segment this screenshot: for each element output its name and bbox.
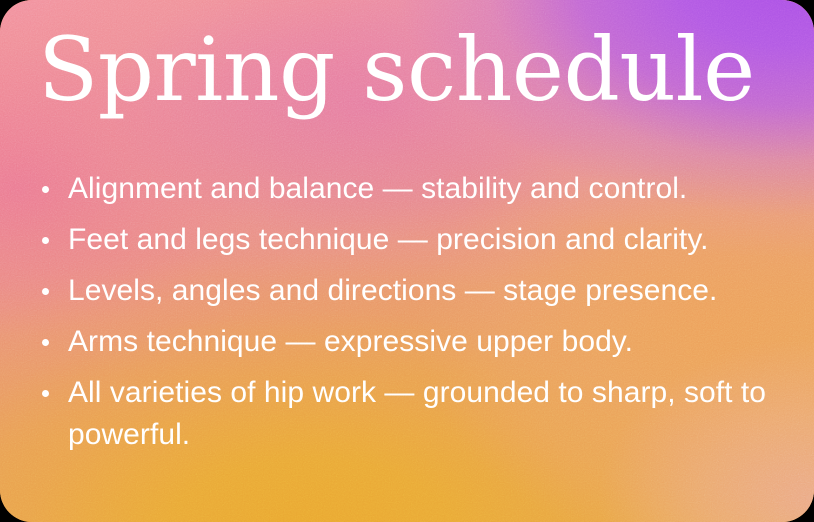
bullet-dot-icon [42,390,49,397]
bullet-dot-icon [42,339,49,346]
list-item: All varieties of hip work — grounded to … [38,372,790,456]
bullet-list: Alignment and balance — stability and co… [38,168,790,456]
bullet-dot-icon [42,288,49,295]
list-item-label: Arms technique — expressive upper body. [68,325,633,358]
bullet-dot-icon [42,186,49,193]
list-item-label: Feet and legs technique — precision and … [68,223,709,256]
page-title: Spring schedule [38,26,755,114]
list-item-label: All varieties of hip work — grounded to … [68,376,766,451]
list-item-label: Alignment and balance — stability and co… [68,172,687,205]
bullet-dot-icon [42,237,49,244]
list-item: Levels, angles and directions — stage pr… [38,270,790,312]
list-item: Alignment and balance — stability and co… [38,168,790,210]
slide-content: Spring schedule Alignment and balance — … [0,0,814,522]
gradient-slide-card: Spring schedule Alignment and balance — … [0,0,814,522]
list-item-label: Levels, angles and directions — stage pr… [68,274,717,307]
list-item: Feet and legs technique — precision and … [38,219,790,261]
list-item: Arms technique — expressive upper body. [38,321,790,363]
